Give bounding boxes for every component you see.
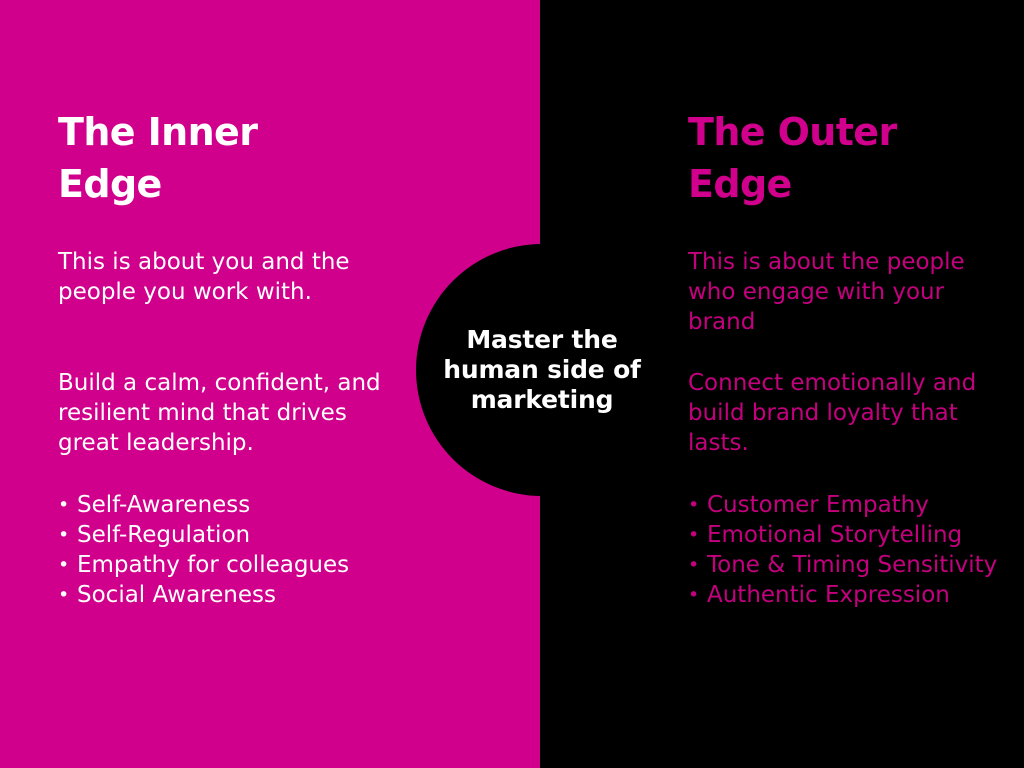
list-item: Customer Empathy	[688, 490, 997, 520]
list-item: Emotional Storytelling	[688, 520, 997, 550]
list-item: Authentic Expression	[688, 580, 997, 610]
right-panel-paragraph-2: Connect emotionally and build brand loya…	[688, 368, 1008, 458]
right-panel-heading: The Outer Edge	[688, 106, 948, 210]
list-item: Self-Regulation	[58, 520, 349, 550]
right-panel-bullet-list: Customer Empathy Emotional Storytelling …	[688, 490, 997, 610]
slide-canvas: The Inner Edge This is about you and the…	[0, 0, 1024, 768]
list-item: Self-Awareness	[58, 490, 349, 520]
list-item: Social Awareness	[58, 580, 349, 610]
left-panel-paragraph-2: Build a calm, confident, and resilient m…	[58, 368, 398, 458]
list-item: Empathy for colleagues	[58, 550, 349, 580]
left-panel-paragraph-1: This is about you and the people you wor…	[58, 247, 398, 307]
center-badge-circle: Master the human side of marketing	[416, 244, 668, 496]
right-panel-paragraph-1: This is about the people who engage with…	[688, 247, 1008, 337]
left-panel-heading: The Inner Edge	[58, 106, 318, 210]
list-item: Tone & Timing Sensitivity	[688, 550, 997, 580]
center-badge-label: Master the human side of marketing	[437, 325, 647, 415]
left-panel-bullet-list: Self-Awareness Self-Regulation Empathy f…	[58, 490, 349, 610]
